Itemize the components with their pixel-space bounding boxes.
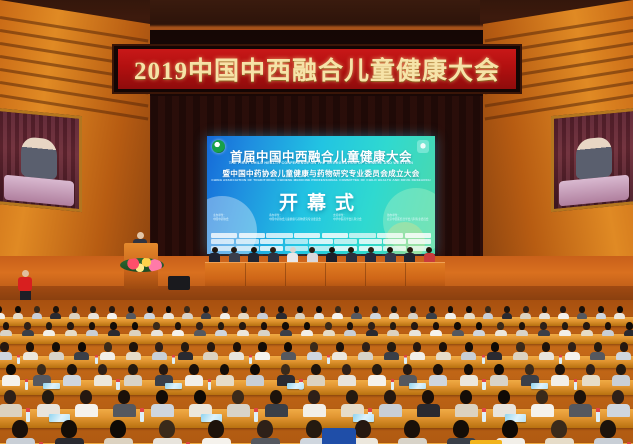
audience-member — [251, 420, 280, 444]
audience-member — [464, 306, 475, 319]
audience-member — [23, 342, 38, 360]
led-subtitle-en: CHINA ASSOCIATION OF TRADITIONAL CHINESE… — [207, 178, 435, 182]
audience-member — [63, 364, 81, 386]
led-organizer-mid: 承办单位： 中国中药协会儿童健康与药物研究专业委员会 — [269, 214, 325, 222]
gift-box — [470, 440, 502, 444]
presidium-member — [268, 247, 279, 262]
water-bottle — [208, 379, 212, 390]
sponsor-logo — [349, 233, 375, 238]
audience-member — [86, 322, 98, 336]
conference-booklet — [165, 383, 182, 389]
audience-member — [513, 342, 528, 360]
sponsor-logo — [334, 239, 357, 244]
audience-member — [2, 364, 20, 386]
screen-speaker-figure — [21, 137, 56, 180]
audience-member — [426, 306, 437, 319]
audience-member — [408, 306, 419, 319]
audience-member — [151, 390, 174, 417]
water-bottle — [25, 379, 29, 390]
audience-member — [65, 322, 77, 336]
presidium-member — [385, 247, 396, 262]
audience-member — [238, 306, 249, 319]
sponsor-logo — [405, 233, 431, 238]
audience-member — [596, 306, 607, 319]
floral-arrangement — [120, 258, 164, 272]
audience-member — [124, 364, 142, 386]
audience-member — [189, 390, 212, 417]
water-bottle — [391, 379, 395, 390]
audience-member — [151, 322, 163, 336]
audience-member — [520, 306, 531, 319]
right-projection-screen — [551, 108, 633, 212]
audience-member — [0, 322, 12, 336]
audience-member — [430, 322, 442, 336]
audience-member — [614, 306, 625, 319]
sponsor-logo — [211, 239, 234, 244]
conference-booklet — [287, 383, 304, 389]
led-title-en: THE FIRST CHILD HEALTH CONFERENCE ON THE… — [207, 161, 435, 165]
audience-member — [538, 322, 550, 336]
audience-member — [13, 306, 24, 319]
audience-member — [389, 306, 400, 319]
sponsor-logo — [383, 239, 406, 244]
audience-member — [460, 364, 478, 386]
audience-member — [185, 364, 203, 386]
sponsor-logo — [408, 239, 431, 244]
audience-member — [94, 364, 112, 386]
led-organizer-far: 协办单位： 北京中西医结合学会儿科专业委员会 — [387, 214, 431, 222]
audience-member — [461, 342, 476, 360]
audience-member — [558, 306, 569, 319]
audience-member — [113, 390, 136, 417]
audience-member — [410, 342, 425, 360]
audience-member — [55, 420, 84, 444]
audience-member — [531, 390, 554, 417]
audience-member — [237, 322, 249, 336]
audience-member — [409, 322, 421, 336]
audience-member — [616, 342, 631, 360]
audience-member — [495, 322, 507, 336]
audience-member — [280, 322, 292, 336]
audience-member — [74, 342, 89, 360]
sponsor-logo — [294, 233, 320, 238]
audience-member — [577, 306, 588, 319]
water-bottle — [140, 408, 144, 422]
audience-member — [344, 322, 356, 336]
audience-member — [516, 322, 528, 336]
screen-speaker-figure — [576, 137, 611, 180]
audience-member — [163, 306, 174, 319]
audience-member — [182, 306, 193, 319]
audience-member — [370, 306, 381, 319]
audience-member — [445, 306, 456, 319]
left-projection-screen — [0, 108, 82, 212]
audience-member — [565, 342, 580, 360]
water-bottle — [95, 355, 98, 364]
seated-audience — [0, 300, 633, 444]
audience-member — [22, 322, 34, 336]
audience-member — [602, 322, 614, 336]
presidium-member — [229, 247, 240, 262]
sponsor-logo — [236, 239, 259, 244]
audience-member — [539, 306, 550, 319]
audience-member — [257, 306, 268, 319]
audience-member — [0, 390, 22, 417]
presidium-member — [209, 247, 220, 262]
audience-member — [88, 306, 99, 319]
audience-member — [384, 342, 399, 360]
audience-member — [590, 342, 605, 360]
audience-member — [545, 420, 574, 444]
audience-member — [43, 322, 55, 336]
audience-member — [153, 420, 182, 444]
audience-member — [452, 322, 464, 336]
water-bottle — [249, 355, 252, 364]
presidium-member — [248, 247, 259, 262]
audience-member — [624, 322, 633, 336]
audience-member — [215, 322, 227, 336]
audience-member — [387, 322, 399, 336]
audience-member — [429, 364, 447, 386]
led-ceremony-label: 开幕式 — [207, 188, 435, 215]
led-organizer-left: 主办单位： 中国中药协会 — [213, 214, 259, 222]
audience-member — [368, 364, 386, 386]
audience-member — [323, 322, 335, 336]
sponsor-logo — [266, 233, 292, 238]
audience-member — [258, 322, 270, 336]
audience-member — [301, 322, 313, 336]
audience-member — [559, 322, 571, 336]
audience-member — [129, 322, 141, 336]
audience-member — [172, 322, 184, 336]
staff-member-red-shirt — [18, 270, 32, 300]
conference-booklet — [43, 383, 60, 389]
audience-member — [152, 342, 167, 360]
water-bottle — [574, 379, 578, 390]
audience-member — [276, 306, 287, 319]
sponsor-logo — [359, 239, 382, 244]
audience-member — [229, 342, 244, 360]
audience-member — [358, 342, 373, 360]
audience-member — [332, 342, 347, 360]
audience-member — [581, 322, 593, 336]
audience-member — [201, 306, 212, 319]
water-bottle — [482, 408, 486, 422]
water-bottle — [482, 355, 485, 364]
presidium-member — [287, 247, 298, 262]
water-bottle — [559, 355, 562, 364]
audience-member — [338, 364, 356, 386]
water-bottle — [116, 379, 120, 390]
audience-member — [203, 342, 218, 360]
audience-member — [246, 364, 264, 386]
audience-member — [37, 390, 60, 417]
audience-member — [490, 364, 508, 386]
audience-member — [100, 342, 115, 360]
water-bottle — [17, 355, 20, 364]
audience-member — [551, 364, 569, 386]
audience-member — [483, 306, 494, 319]
audience-member — [220, 306, 231, 319]
audience-member — [379, 390, 402, 417]
audience-member — [104, 420, 133, 444]
sponsor-logo — [285, 239, 308, 244]
audience-member — [255, 342, 270, 360]
audience-member — [487, 342, 502, 360]
presidium-member — [404, 247, 415, 262]
led-organizer-right: 支持单位： 中华中医药学会儿科分会 — [333, 214, 383, 222]
stage-monitor-speaker — [168, 276, 190, 290]
sponsor-logo-grid — [211, 233, 431, 253]
audience-member — [107, 306, 118, 319]
presidium-member — [424, 247, 435, 262]
audience-member — [607, 390, 630, 417]
presidium-member — [326, 247, 337, 262]
audience-member — [0, 342, 12, 360]
audience-member — [332, 306, 343, 319]
audience-member — [32, 306, 43, 319]
audience-member — [473, 322, 485, 336]
audience-member — [493, 390, 516, 417]
audience-member — [144, 306, 155, 319]
audience-member — [108, 322, 120, 336]
sponsor-logo — [322, 233, 348, 238]
audience-member — [502, 306, 513, 319]
audience-member — [539, 342, 554, 360]
audience-member — [398, 420, 427, 444]
audience-member — [50, 306, 61, 319]
audience-member — [126, 306, 137, 319]
audience-member — [366, 322, 378, 336]
water-bottle — [327, 355, 330, 364]
sponsor-logo — [260, 239, 283, 244]
audience-member — [436, 342, 451, 360]
audience-member — [341, 390, 364, 417]
conference-hall-photo: 2019中国中西融合儿童健康大会 首届中国中西融合儿童健康大会 THE FIRS… — [0, 0, 633, 444]
sponsor-logo — [239, 233, 265, 238]
audience-member — [303, 390, 326, 417]
audience-member — [69, 306, 80, 319]
audience-member — [0, 306, 5, 319]
audience-member — [314, 306, 325, 319]
audience-member — [351, 306, 362, 319]
audience-member — [202, 420, 231, 444]
audience-member — [582, 364, 600, 386]
audience-member — [216, 364, 234, 386]
water-bottle — [172, 355, 175, 364]
sponsor-logo — [211, 233, 237, 238]
conference-booklet — [409, 383, 426, 389]
audience-member — [126, 342, 141, 360]
presidium-member — [307, 247, 318, 262]
audience-member — [569, 390, 592, 417]
presidium-member — [365, 247, 376, 262]
tote-bag — [322, 428, 356, 444]
audience-member — [194, 322, 206, 336]
audience-member — [612, 364, 630, 386]
audience-member — [75, 390, 98, 417]
audience-member — [417, 390, 440, 417]
audience-member — [295, 306, 306, 319]
water-bottle — [482, 379, 486, 390]
conference-banner: 2019中国中西融合儿童健康大会 — [118, 49, 516, 89]
audience-member — [6, 420, 35, 444]
sponsor-logo — [309, 239, 332, 244]
audience-member — [307, 342, 322, 360]
audience-member — [227, 390, 250, 417]
sponsor-logo — [377, 233, 403, 238]
conference-booklet — [531, 383, 548, 389]
audience-member — [49, 342, 64, 360]
main-led-screen: 首届中国中西融合儿童健康大会 THE FIRST CHILD HEALTH CO… — [207, 136, 435, 254]
presidium-member — [346, 247, 357, 262]
audience-member — [281, 342, 296, 360]
audience-member — [594, 420, 623, 444]
water-bottle — [404, 355, 407, 364]
audience-member — [265, 390, 288, 417]
banner-title-text: 2019中国中西融合儿童健康大会 — [134, 51, 500, 87]
audience-member — [178, 342, 193, 360]
audience-member — [455, 390, 478, 417]
audience-member — [307, 364, 325, 386]
